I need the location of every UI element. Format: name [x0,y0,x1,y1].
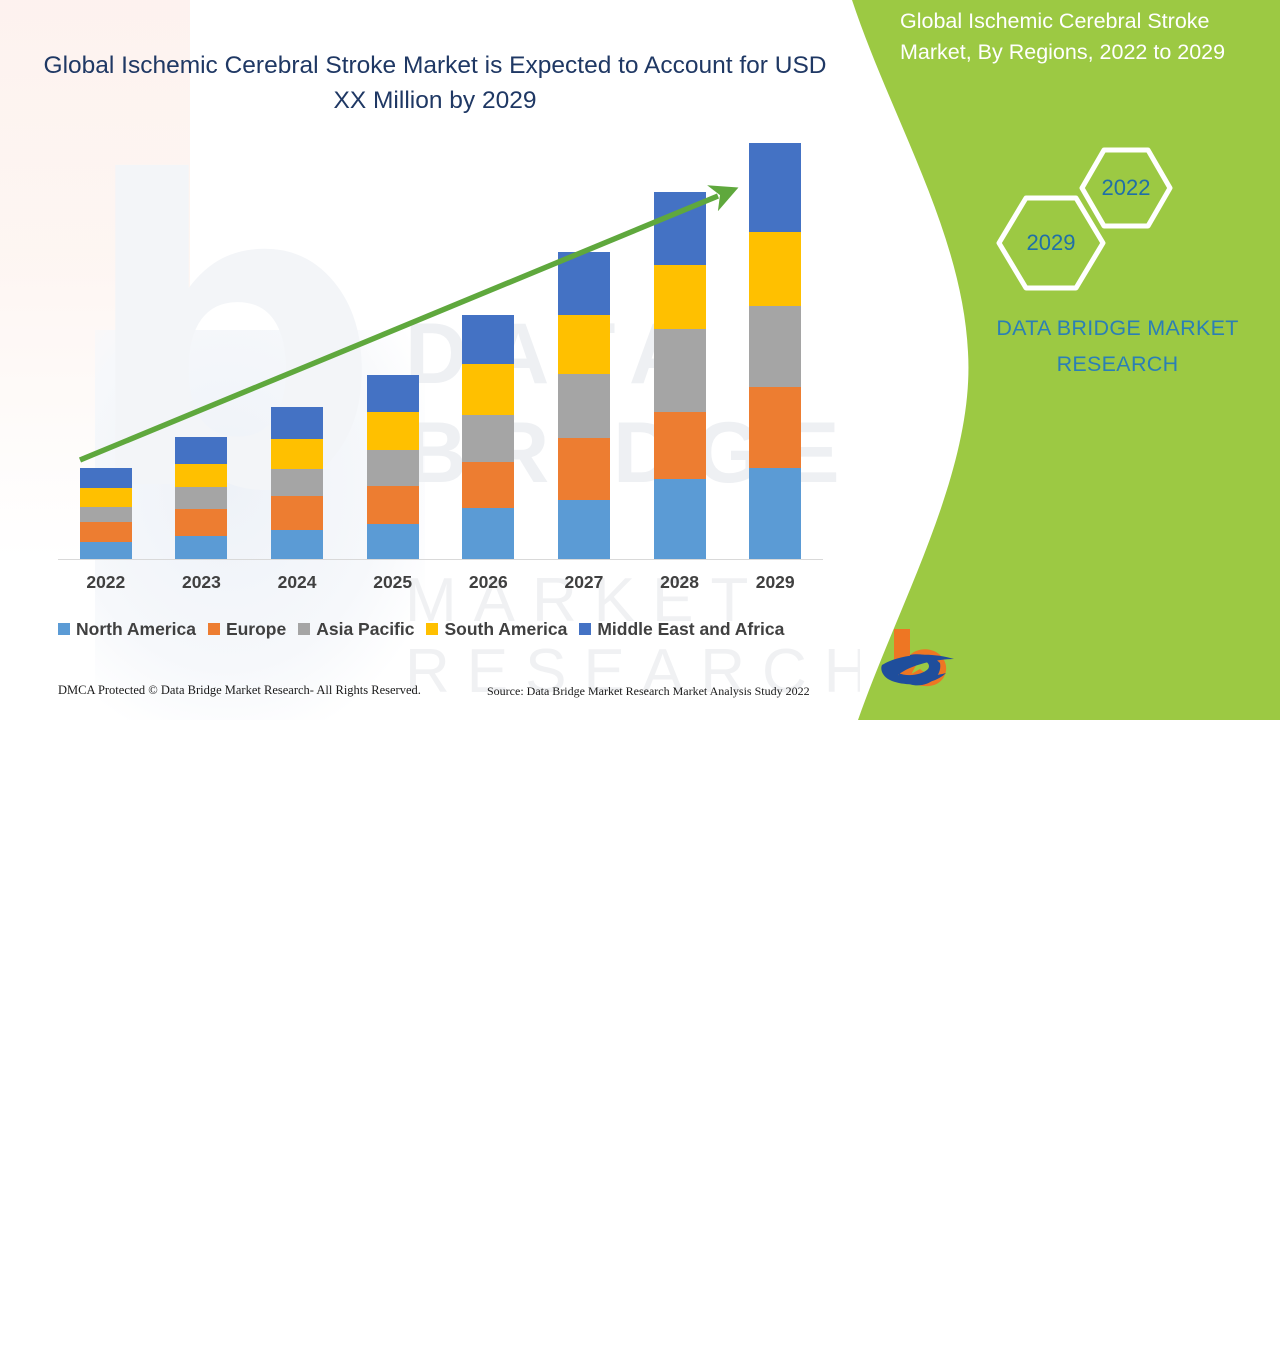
x-axis-label-2024: 2024 [262,572,332,593]
bar-segment [367,450,419,486]
legend-swatch-icon [58,623,70,635]
legend-label: Middle East and Africa [597,619,784,640]
bar-2027 [558,252,610,560]
chart-panel: b DATA BRIDGE MARKET RESEARCH Global Isc… [0,0,860,720]
legend-label: South America [444,619,567,640]
bar-segment [367,375,419,412]
legend-item[interactable]: North America [58,619,196,640]
bar-segment [80,542,132,560]
hexagon-2022-label: 2022 [1078,175,1174,201]
bar-segment [462,508,514,560]
bar-segment [558,500,610,560]
bar-segment [654,412,706,479]
x-axis-label-2026: 2026 [453,572,523,593]
x-axis-label-2029: 2029 [740,572,810,593]
x-axis-label-2028: 2028 [645,572,715,593]
bar-segment [271,496,323,530]
bar-segment [271,407,323,439]
bar-segment [367,412,419,450]
bar-segment [749,306,801,387]
brand-name: DATA BRIDGE MARKET RESEARCH [965,310,1270,382]
x-axis-line [58,559,823,560]
bar-segment [558,438,610,500]
bar-segment [80,522,132,542]
legend-label: Asia Pacific [316,619,414,640]
legend-label: Europe [226,619,286,640]
bar-2023 [175,437,227,560]
hexagon-2029-label: 2029 [995,230,1107,256]
legend-swatch-icon [298,623,310,635]
legend-swatch-icon [426,623,438,635]
data-bridge-b-logo-icon [880,625,972,691]
bar-2029 [749,143,801,560]
hexagon-outline-icon [1078,146,1174,230]
bar-segment [749,387,801,468]
bar-segment [462,364,514,415]
bar-segment [271,530,323,560]
bar-segment [271,469,323,497]
bar-segment [654,479,706,560]
bar-segment [271,439,323,469]
bar-segment [80,488,132,506]
legend-swatch-icon [208,623,220,635]
bar-segment [654,329,706,412]
bar-segment [80,507,132,522]
bar-segment [654,265,706,330]
bar-2022 [80,468,132,560]
hexagon-2022: 2022 [1078,146,1174,230]
bar-segment [462,415,514,462]
chart-plot-area [58,130,823,560]
bar-2028 [654,192,706,560]
footer-copyright: DMCA Protected © Data Bridge Market Rese… [58,683,421,698]
bar-segment [558,252,610,316]
bar-segment [558,315,610,374]
bar-segment [175,464,227,487]
bar-segment [175,509,227,536]
bar-2024 [271,407,323,560]
bar-segment [462,462,514,508]
panel-title: Global Ischemic Cerebral Stroke Market, … [900,6,1270,68]
bar-segment [749,143,801,232]
hexagon-2029: 2029 [995,194,1107,292]
x-axis-label-2025: 2025 [358,572,428,593]
x-axis-label-2022: 2022 [71,572,141,593]
legend-swatch-icon [579,623,591,635]
x-axis-label-2023: 2023 [166,572,236,593]
legend-item[interactable]: South America [426,619,567,640]
x-axis-labels: 20222023202420252026202720282029 [58,572,823,600]
legend-item[interactable]: Middle East and Africa [579,619,784,640]
bar-segment [175,437,227,464]
bar-segment [175,536,227,560]
bar-segment [367,486,419,524]
bar-segment [749,232,801,307]
bar-segment [749,468,801,560]
bar-segment [80,468,132,488]
bar-segment [654,192,706,265]
chart-title: Global Ischemic Cerebral Stroke Market i… [40,48,830,118]
bar-segment [175,487,227,509]
legend-item[interactable]: Asia Pacific [298,619,414,640]
legend-item[interactable]: Europe [208,619,286,640]
legend-label: North America [76,619,196,640]
bar-segment [367,524,419,560]
hexagon-outline-icon [995,194,1107,292]
x-axis-label-2027: 2027 [549,572,619,593]
bar-segment [558,374,610,438]
bar-2026 [462,315,514,560]
bar-segment [462,315,514,364]
bar-2025 [367,375,419,560]
footer-source: Source: Data Bridge Market Research Mark… [487,684,810,699]
data-bridge-logo: DATA BRIDGE MARKET RESEARCH [880,625,1110,691]
chart-legend: North AmericaEuropeAsia PacificSouth Ame… [58,616,833,642]
